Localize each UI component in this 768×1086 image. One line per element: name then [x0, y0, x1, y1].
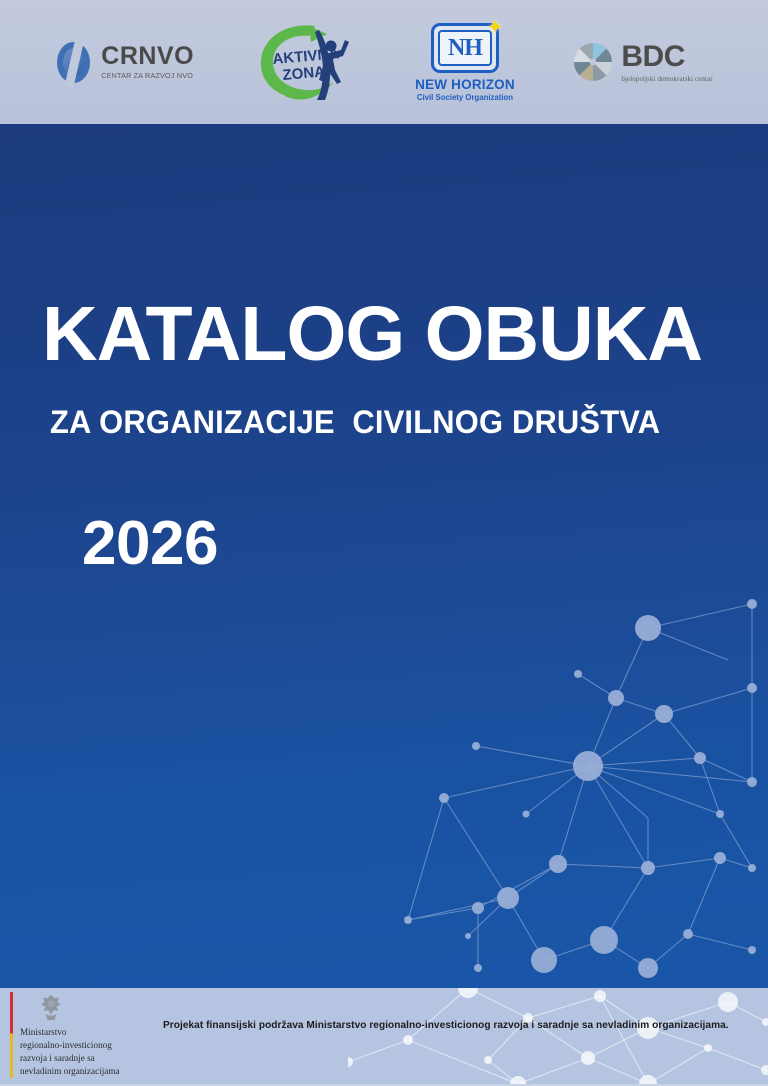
footer-network-decoration-graphic — [348, 988, 768, 1086]
page-title: KATALOG OBUKA — [42, 296, 702, 373]
page-subtitle: ZA ORGANIZACIJE CIVILNOG DRUŠTVA — [50, 406, 660, 438]
cover-page: CRNVO CENTAR ZA RAZVOJ NVO AKTIVNA ZONA … — [0, 0, 768, 1086]
crnvo-tagline: CENTAR ZA RAZVOJ NVO — [101, 72, 194, 79]
ministry-block: Ministarstvo regionalno-investicionog ra… — [10, 992, 120, 1078]
new-horizon-monogram: NH — [448, 36, 482, 60]
bdc-pinwheel-icon — [573, 42, 613, 82]
partner-logo-band: CRNVO CENTAR ZA RAZVOJ NVO AKTIVNA ZONA … — [0, 0, 768, 124]
network-decoration-graphic — [348, 568, 768, 988]
ministry-stripe — [10, 992, 13, 1078]
new-horizon-name: NEW HORIZON — [415, 77, 515, 92]
star-icon: ✦ — [486, 17, 504, 38]
bdc-name: BDC — [621, 42, 712, 72]
new-horizon-monogram-icon: NH ✦ — [431, 23, 499, 73]
funding-note: Projekat finansijski podržava Ministarst… — [163, 1020, 763, 1031]
bdc-tagline: bjelopoljski demokratski centar — [621, 76, 712, 83]
logo-aktivna-zona: AKTIVNA ZONA — [253, 20, 357, 104]
logo-crnvo: CRNVO CENTAR ZA RAZVOJ NVO — [55, 40, 194, 85]
publication-year: 2026 — [82, 513, 218, 575]
montenegro-coat-of-arms-icon — [34, 992, 68, 1023]
ministry-name: Ministarstvo regionalno-investicionog ra… — [20, 1026, 120, 1078]
svg-text:ZONA: ZONA — [281, 63, 325, 84]
new-horizon-tagline: Civil Society Organization — [417, 93, 513, 102]
logo-bdc: BDC bjelopoljski demokratski centar — [573, 42, 712, 83]
hero-panel: KATALOG OBUKA ZA ORGANIZACIJE CIVILNOG D… — [0, 124, 768, 988]
logo-new-horizon: NH ✦ NEW HORIZON Civil Society Organizat… — [415, 23, 515, 102]
crnvo-circle-icon — [55, 40, 92, 85]
footer-band: Ministarstvo regionalno-investicionog ra… — [0, 988, 768, 1086]
aktivna-zona-swoosh-icon: AKTIVNA ZONA — [253, 20, 357, 104]
crnvo-name: CRNVO — [101, 44, 194, 69]
